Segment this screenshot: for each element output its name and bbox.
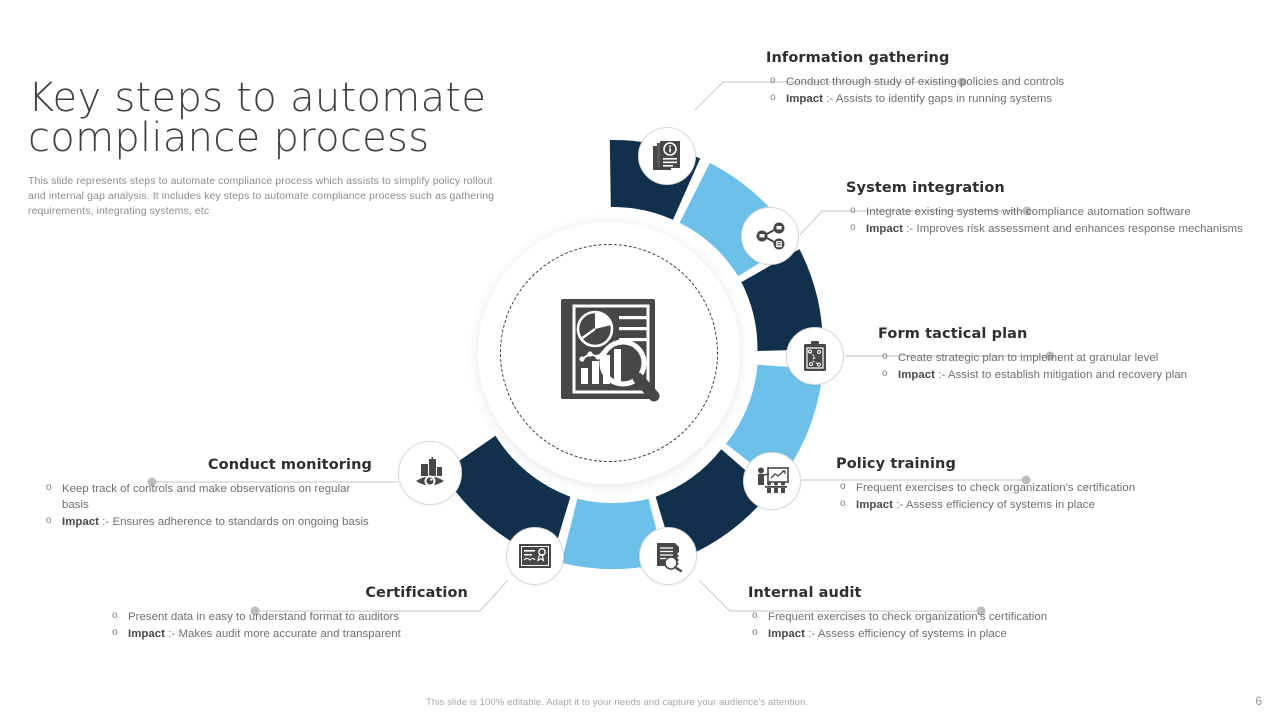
bullet-item: Impact :- Ensures adherence to standards…	[42, 514, 372, 530]
page-number: 6	[1255, 694, 1262, 708]
bullet-item: Impact :- Assists to identify gaps in ru…	[766, 91, 1246, 107]
callout-bullets-certification: Present data in easy to understand forma…	[108, 609, 468, 642]
slide-canvas: Key steps to automate compliance process…	[0, 0, 1280, 720]
callout-heading-form-tactical-plan: Form tactical plan	[878, 326, 1258, 342]
callout-system-integration: System integration Integrate existing sy…	[846, 180, 1246, 238]
callout-heading-internal-audit: Internal audit	[748, 585, 1128, 601]
step-icon-bubble-internal-audit[interactable]	[639, 527, 697, 585]
page-title-line-1: Key steps to automate	[28, 78, 548, 118]
callout-bullets-system-integration: Integrate existing systems with complian…	[846, 204, 1246, 237]
bullet-item: Impact :- Assist to establish mitigation…	[878, 367, 1258, 383]
step-icon-bubble-certification[interactable]	[506, 527, 564, 585]
callout-bullets-internal-audit: Frequent exercises to check organization…	[748, 609, 1128, 642]
certificate-icon	[518, 543, 552, 569]
callout-internal-audit: Internal audit Frequent exercises to che…	[748, 585, 1128, 643]
callout-heading-conduct-monitoring: Conduct monitoring	[42, 457, 372, 473]
callout-policy-training: Policy training Frequent exercises to ch…	[836, 456, 1216, 514]
step-icon-bubble-system-integration[interactable]	[741, 207, 799, 265]
center-medallion	[478, 222, 740, 484]
callout-information-gathering: Information gathering Conduct through st…	[766, 50, 1246, 108]
step-icon-bubble-policy-training[interactable]	[743, 452, 801, 510]
callout-heading-certification: Certification	[108, 585, 468, 601]
bullet-item: Conduct through study of existing polici…	[766, 74, 1246, 90]
bullet-item: Impact :- Makes audit more accurate and …	[108, 626, 468, 642]
callout-bullets-conduct-monitoring: Keep track of controls and make observat…	[42, 481, 372, 531]
bullet-item: Keep track of controls and make observat…	[42, 481, 372, 513]
callout-bullets-policy-training: Frequent exercises to check organization…	[836, 480, 1216, 513]
network-share-icon	[754, 221, 786, 251]
building-eye-monitor-icon	[413, 457, 447, 489]
callout-heading-system-integration: System integration	[846, 180, 1246, 196]
clipboard-strategy-icon: x	[802, 340, 828, 372]
document-info-icon	[652, 140, 682, 172]
step-icon-bubble-information-gathering[interactable]	[638, 127, 696, 185]
callout-bullets-information-gathering: Conduct through study of existing polici…	[766, 74, 1246, 107]
bullet-item: Present data in easy to understand forma…	[108, 609, 468, 625]
bullet-item: Create strategic plan to implement at gr…	[878, 350, 1258, 366]
document-search-icon	[652, 540, 684, 572]
analytics-report-icon	[557, 297, 661, 410]
step-icon-bubble-form-tactical-plan[interactable]: x	[786, 327, 844, 385]
bullet-item: Impact :- Assess efficiency of systems i…	[836, 497, 1216, 513]
bullet-item: Frequent exercises to check organization…	[836, 480, 1216, 496]
bullet-item: Impact :- Improves risk assessment and e…	[846, 221, 1246, 237]
callout-form-tactical-plan: Form tactical plan Create strategic plan…	[878, 326, 1258, 384]
step-icon-bubble-conduct-monitoring[interactable]	[398, 441, 462, 505]
callout-heading-information-gathering: Information gathering	[766, 50, 1246, 66]
bullet-item: Impact :- Assess efficiency of systems i…	[748, 626, 1128, 642]
callout-heading-policy-training: Policy training	[836, 456, 1216, 472]
training-presentation-icon	[755, 466, 789, 496]
footer-note: This slide is 100% editable. Adapt it to…	[426, 697, 808, 708]
callout-certification: Certification Present data in easy to un…	[108, 585, 468, 643]
bullet-item: Integrate existing systems with complian…	[846, 204, 1246, 220]
bullet-item: Frequent exercises to check organization…	[748, 609, 1128, 625]
callout-conduct-monitoring: Conduct monitoring Keep track of control…	[42, 457, 372, 532]
callout-bullets-form-tactical-plan: Create strategic plan to implement at gr…	[878, 350, 1258, 383]
